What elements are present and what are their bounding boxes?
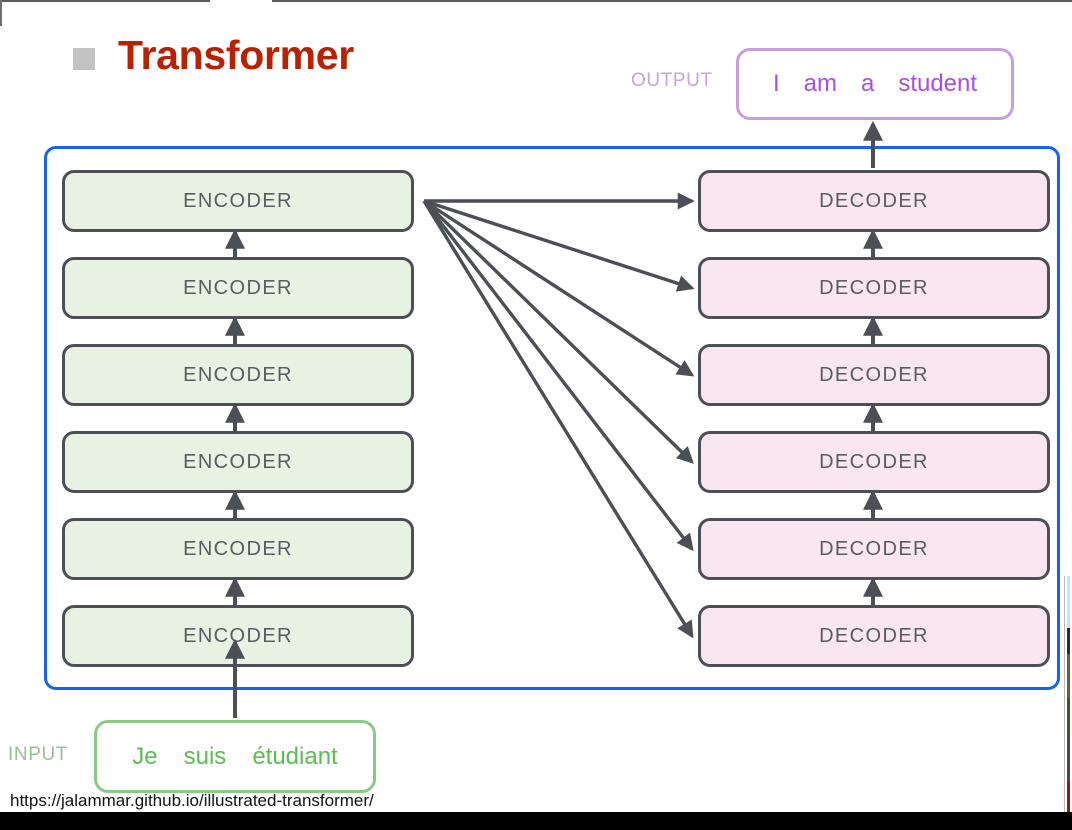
encoder-block[interactable]: ENCODER: [62, 344, 414, 406]
window-chrome-strip-right: [272, 0, 1072, 2]
decoder-block[interactable]: DECODER: [698, 344, 1050, 406]
sliver-band: [1067, 628, 1070, 654]
source-url: https://jalammar.github.io/illustrated-t…: [10, 791, 374, 811]
sliver-band: [1067, 654, 1070, 698]
encoder-block[interactable]: ENCODER: [62, 431, 414, 493]
decoder-stack: DECODER DECODER DECODER DECODER DECODER …: [698, 170, 1050, 667]
sliver-band: [1067, 576, 1070, 628]
encoder-label: ENCODER: [183, 190, 293, 213]
decoder-label: DECODER: [819, 625, 929, 648]
decoder-block[interactable]: DECODER: [698, 170, 1050, 232]
decoder-block[interactable]: DECODER: [698, 605, 1050, 667]
output-label: OUTPUT: [631, 70, 713, 92]
encoder-block[interactable]: ENCODER: [62, 170, 414, 232]
title-bullet-square: [73, 48, 95, 70]
input-sequence-box: Je suis étudiant: [94, 720, 376, 793]
slide-canvas: Transformer OUTPUT I am a student ENCODE…: [0, 0, 1072, 830]
encoder-label: ENCODER: [183, 277, 293, 300]
input-token: Je: [132, 743, 157, 771]
sliver-band: [1067, 736, 1070, 782]
page-title: Transformer: [118, 32, 354, 79]
input-token: étudiant: [252, 743, 337, 771]
sliver-band: [1067, 782, 1070, 812]
encoder-block[interactable]: ENCODER: [62, 518, 414, 580]
adjacent-panel-sliver: [1064, 576, 1072, 812]
decoder-label: DECODER: [819, 277, 929, 300]
encoder-label: ENCODER: [183, 538, 293, 561]
decoder-block[interactable]: DECODER: [698, 431, 1050, 493]
encoder-block[interactable]: ENCODER: [62, 605, 414, 667]
decoder-label: DECODER: [819, 190, 929, 213]
encoder-label: ENCODER: [183, 451, 293, 474]
decoder-label: DECODER: [819, 538, 929, 561]
decoder-block[interactable]: DECODER: [698, 518, 1050, 580]
input-label: INPUT: [8, 744, 68, 766]
output-sequence-box: I am a student: [736, 48, 1014, 120]
decoder-label: DECODER: [819, 364, 929, 387]
encoder-block[interactable]: ENCODER: [62, 257, 414, 319]
sliver-band: [1067, 698, 1070, 736]
output-token: I: [773, 70, 780, 98]
window-chrome-strip-left: [0, 0, 210, 2]
encoder-label: ENCODER: [183, 625, 293, 648]
output-token: a: [861, 70, 874, 98]
input-token: suis: [184, 743, 227, 771]
decoder-label: DECODER: [819, 451, 929, 474]
decoder-block[interactable]: DECODER: [698, 257, 1050, 319]
encoder-label: ENCODER: [183, 364, 293, 387]
encoder-stack: ENCODER ENCODER ENCODER ENCODER ENCODER …: [62, 170, 414, 667]
output-token: student: [898, 70, 977, 98]
output-token: am: [804, 70, 837, 98]
bottom-black-bar: [0, 812, 1072, 830]
window-chrome-left-edge: [0, 0, 2, 26]
